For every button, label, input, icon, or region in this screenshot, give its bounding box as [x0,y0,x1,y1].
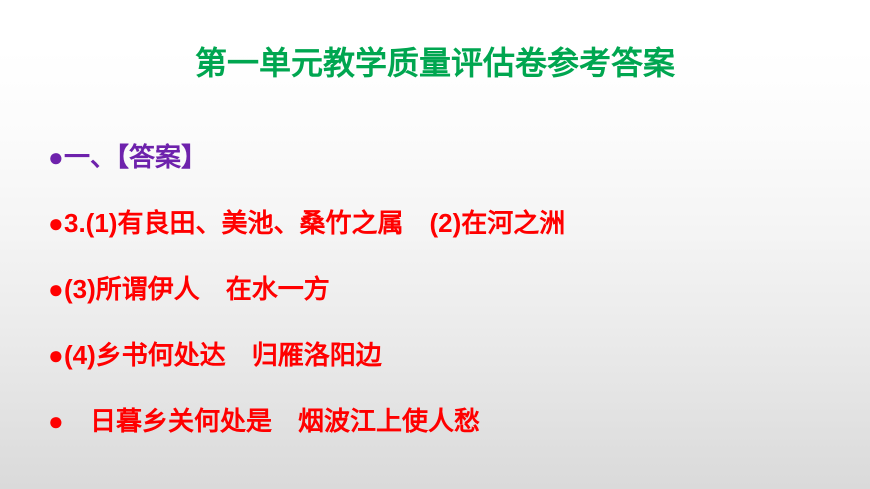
presentation-slide: 第一单元教学质量评估卷参考答案 ● 一、【答案】 ● 3.(1)有良田、美池、桑… [0,0,870,489]
bullet-item-1-text: 一、【答案】 [64,124,207,190]
bullet-marker-icon: ● [48,322,64,388]
bullet-item-2-text: 3.(1)有良田、美池、桑竹之属 (2)在河之洲 [64,190,565,256]
slide-title: 第一单元教学质量评估卷参考答案 [0,44,870,82]
bullet-marker-icon: ● [48,256,64,322]
bullet-marker-icon: ● [48,124,64,190]
answer-bullet-list: ● 一、【答案】 ● 3.(1)有良田、美池、桑竹之属 (2)在河之洲 ● (3… [48,124,838,454]
bullet-item-5[interactable]: ● 日暮乡关何处是 烟波江上使人愁 [48,388,838,454]
bullet-item-2[interactable]: ● 3.(1)有良田、美池、桑竹之属 (2)在河之洲 [48,190,838,256]
bullet-item-4[interactable]: ● (4)乡书何处达 归雁洛阳边 [48,322,838,388]
bullet-marker-icon: ● [48,190,64,256]
bullet-item-4-text: (4)乡书何处达 归雁洛阳边 [64,322,382,388]
bullet-item-1[interactable]: ● 一、【答案】 [48,124,838,190]
bullet-item-5-text: 日暮乡关何处是 烟波江上使人愁 [64,388,480,454]
bullet-item-3[interactable]: ● (3)所谓伊人 在水一方 [48,256,838,322]
bullet-item-3-text: (3)所谓伊人 在水一方 [64,256,330,322]
bullet-marker-icon: ● [48,388,64,454]
